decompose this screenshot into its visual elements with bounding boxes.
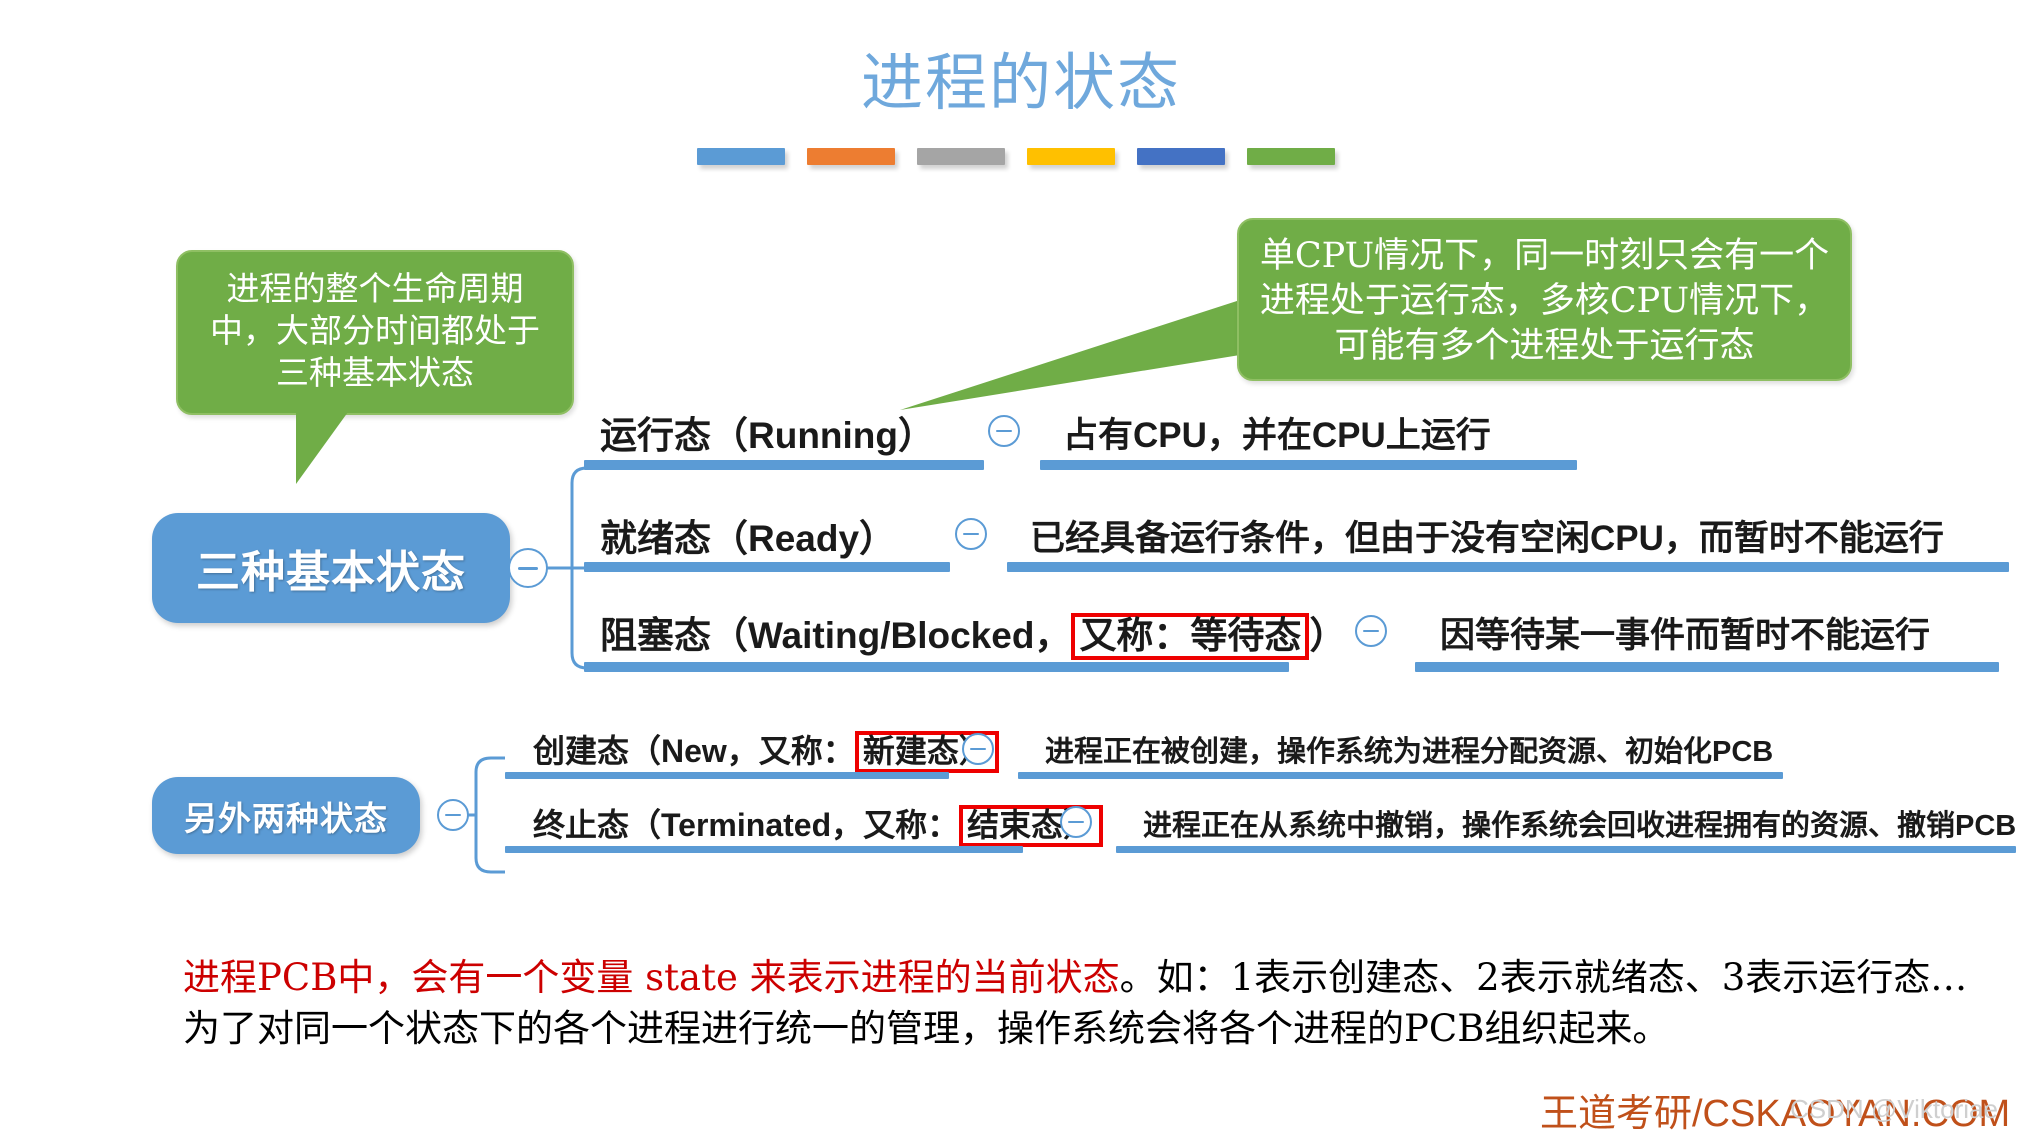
collapse-toggle-running[interactable] (988, 415, 1020, 447)
callout-left: 进程的整个生命周期中，大部分时间都处于三种基本状态 (176, 250, 574, 415)
callout-right: 单CPU情况下，同一时刻只会有一个进程处于运行态，多核CPU情况下，可能有多个进… (1237, 218, 1852, 381)
callout-left-tail (296, 412, 348, 484)
accent-bar-2 (807, 148, 895, 165)
branch-label-blocked-pre: 阻塞态（Waiting/Blocked， (600, 615, 1071, 656)
accent-bar-5 (1137, 148, 1225, 165)
branch-desc-new: 进程正在被创建，操作系统为进程分配资源、初始化PCB (1045, 728, 1773, 770)
footer-watermark: CSDN @Viktoriae (1790, 1094, 1998, 1125)
bottom-note-line2: 为了对同一个状态下的各个进程进行统一的管理，操作系统会将各个进程的PCB组织起来… (183, 1003, 1983, 1054)
bottom-note-red: 进程PCB中，会有一个变量 state 来表示进程的当前状态 (183, 956, 1120, 999)
accent-bar-3 (917, 148, 1005, 165)
branch-underline-new-desc (1018, 772, 1783, 779)
branch-label-terminated[interactable]: 终止态（Terminated，又称：结束态） (533, 800, 1103, 847)
accent-bar-1 (697, 148, 785, 165)
branch-desc-blocked: 因等待某一事件而暂时不能运行 (1440, 607, 1930, 658)
branch-underline-running (584, 460, 984, 470)
mindmap-node-extra-states[interactable]: 另外两种状态 (152, 777, 420, 854)
branch-desc-running: 占有CPU，并在CPU上运行 (1063, 407, 1491, 458)
branch-label-blocked[interactable]: 阻塞态（Waiting/Blocked，又称：等待态） (600, 605, 1346, 660)
branch-label-new-pre: 创建态（New，又称： (533, 733, 855, 769)
branch-label-new[interactable]: 创建态（New，又称：新建态） (533, 726, 999, 773)
branch-desc-ready: 已经具备运行条件，但由于没有空闲CPU，而暂时不能运行 (1030, 510, 1944, 561)
accent-bar-strip (697, 148, 1335, 165)
branch-underline-ready (584, 562, 950, 572)
branch-underline-ready-desc (1007, 562, 2009, 572)
branch-underline-blocked-desc (1415, 662, 1999, 672)
branch-underline-running-desc (1040, 460, 1577, 470)
collapse-toggle-new[interactable] (962, 733, 994, 765)
branch-label-blocked-post: ） (1309, 615, 1346, 656)
accent-bar-6 (1247, 148, 1335, 165)
bottom-note: 进程PCB中，会有一个变量 state 来表示进程的当前状态。如：1表示创建态、… (183, 952, 1983, 1054)
branch-label-terminated-pre: 终止态（Terminated，又称： (533, 807, 959, 843)
collapse-toggle-ready[interactable] (955, 518, 987, 550)
collapse-toggle-blocked[interactable] (1355, 615, 1387, 647)
branch-label-blocked-highlight: 又称：等待态 (1071, 613, 1309, 660)
bottom-note-black1: 。如：1表示创建态、2表示就绪态、3表示运行态… (1120, 956, 1968, 999)
accent-bar-4 (1027, 148, 1115, 165)
mindmap-node-basic-states[interactable]: 三种基本状态 (152, 513, 510, 623)
bottom-note-line1: 进程PCB中，会有一个变量 state 来表示进程的当前状态。如：1表示创建态、… (183, 952, 1983, 1003)
branch-underline-terminated-desc (1116, 846, 2016, 853)
collapse-toggle-terminated[interactable] (1060, 806, 1092, 838)
collapse-toggle-basic-states[interactable] (508, 548, 548, 588)
branch-label-running[interactable]: 运行态（Running） (600, 405, 935, 459)
branch-desc-terminated: 进程正在从系统中撤销，操作系统会回收进程拥有的资源、撤销PCB (1143, 802, 2016, 844)
page-title: 进程的状态 (0, 32, 2042, 122)
collapse-toggle-extra-states[interactable] (437, 799, 469, 831)
branch-underline-blocked (584, 662, 1289, 672)
branch-label-ready[interactable]: 就绪态（Ready） (600, 508, 896, 562)
branch-underline-new (505, 772, 949, 779)
branch-underline-terminated (505, 846, 1023, 853)
slide-canvas: 进程的状态 进程的整个生命周期中，大部分时间都处于三种基本状态 单CPU情况下，… (0, 0, 2042, 1142)
